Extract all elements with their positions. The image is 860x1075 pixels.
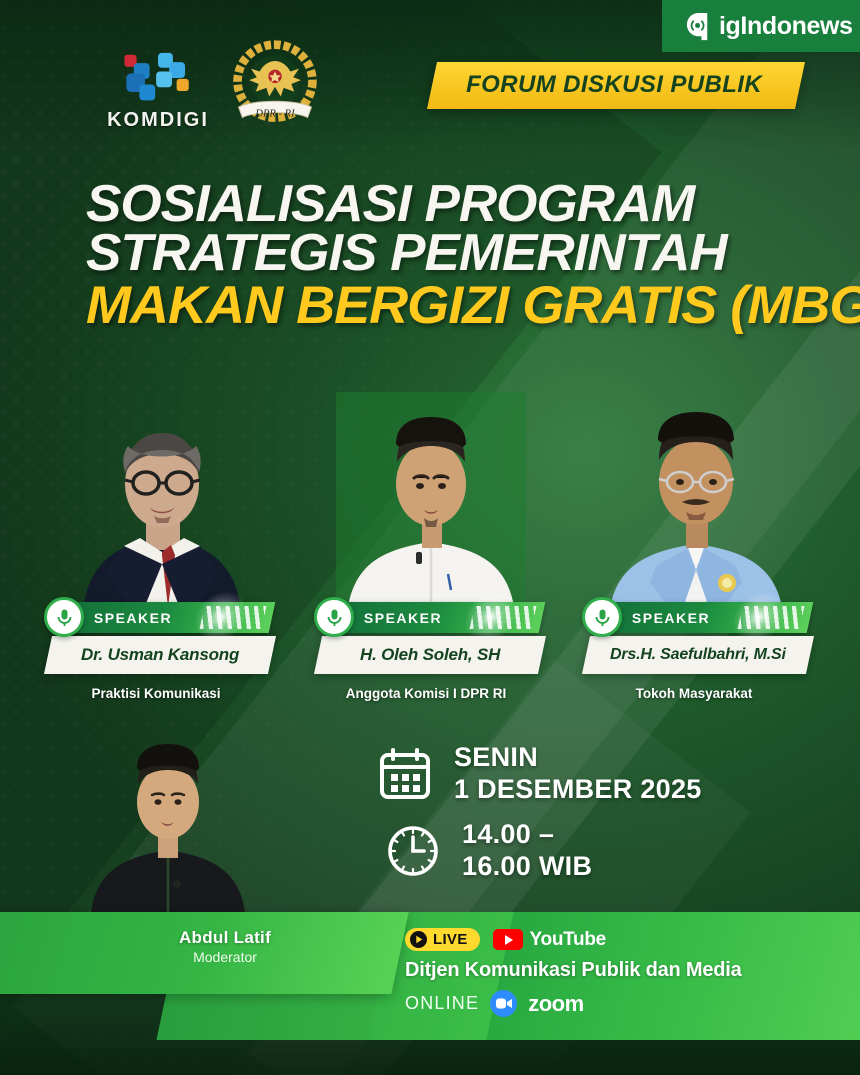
- play-icon: [409, 930, 428, 949]
- komdigi-wordmark: KOMDIGI: [103, 109, 213, 132]
- title-line-2: STRATEGIS PEMERINTAH: [86, 229, 860, 278]
- schedule-time-end: 16.00 WIB: [462, 851, 592, 883]
- microphone-icon: [44, 597, 84, 637]
- schedule-time-start: 14.00 –: [462, 819, 592, 851]
- youtube-logo[interactable]: YouTube: [493, 929, 606, 951]
- watermark-igindonews: igIndonews: [662, 0, 860, 52]
- microphone-icon: [314, 597, 354, 637]
- speaker-name-plate-3: Drs.H. Saefulbahri, M.Si: [582, 636, 814, 674]
- schedule-day: SENIN: [454, 742, 702, 774]
- zoom-label: zoom: [528, 991, 583, 1017]
- online-label: ONLINE: [405, 993, 479, 1014]
- speaker-bar-2: SPEAKER: [331, 602, 546, 633]
- institution-logos: KOMDIGI DPR - RI: [103, 36, 323, 132]
- komdigi-logo-icon: [115, 51, 201, 105]
- broadcast-online-row: ONLINE zoom: [405, 990, 742, 1017]
- signal-leaf-icon: [684, 11, 715, 42]
- speaker-role: Tokoh Masyarakat: [578, 686, 810, 701]
- moderator-photo: [78, 722, 258, 922]
- schedule-date-row: SENIN 1 DESEMBER 2025: [378, 742, 702, 805]
- schedule-block: SENIN 1 DESEMBER 2025 14.00 – 16.00 WIB: [378, 742, 702, 882]
- broadcast-channel: Ditjen Komunikasi Publik dan Media: [405, 959, 742, 982]
- youtube-label: YouTube: [530, 929, 606, 951]
- speaker-flare: [726, 592, 793, 642]
- speaker-flare: [458, 592, 525, 642]
- clock-icon: [386, 824, 440, 878]
- title-line-3: MAKAN BERGIZI GRATIS (MBG): [86, 281, 860, 331]
- forum-ribbon-label: FORUM DISKUSI PUBLIK: [466, 71, 762, 99]
- watermark-label: igIndonews: [719, 12, 853, 41]
- speaker-role: Anggota Komisi I DPR RI: [310, 686, 542, 701]
- zoom-camera-icon: [490, 990, 517, 1017]
- schedule-date-text: SENIN 1 DESEMBER 2025: [454, 742, 702, 805]
- speaker-bar-1: SPEAKER: [61, 602, 276, 633]
- forum-ribbon: FORUM DISKUSI PUBLIK: [427, 62, 805, 109]
- calendar-icon: [378, 747, 432, 801]
- schedule-time-row: 14.00 – 16.00 WIB: [378, 819, 702, 882]
- broadcast-info: LIVE YouTube Ditjen Komunikasi Publik da…: [405, 928, 742, 1017]
- page-title: SOSIALISASI PROGRAM STRATEGIS PEMERINTAH…: [86, 180, 860, 331]
- schedule-time-text: 14.00 – 16.00 WIB: [462, 819, 592, 882]
- speaker-name: H. Oleh Soleh, SH: [360, 645, 500, 665]
- komdigi-logo-group: KOMDIGI: [103, 51, 213, 132]
- speaker-bar-3: SPEAKER: [599, 602, 814, 633]
- svg-text:DPR - RI: DPR - RI: [254, 109, 295, 120]
- speaker-photo-3: [596, 390, 796, 622]
- speaker-name-plate-2: H. Oleh Soleh, SH: [314, 636, 546, 674]
- speaker-photo-2: [336, 392, 526, 622]
- title-line-1: SOSIALISASI PROGRAM: [86, 180, 860, 229]
- speaker-name-plate-1: Dr. Usman Kansong: [44, 636, 276, 674]
- speaker-card-3: SPEAKER Drs.H. Saefulbahri, M.Si Tokoh M…: [578, 602, 810, 701]
- speaker-name: Drs.H. Saefulbahri, M.Si: [610, 646, 786, 664]
- schedule-date: 1 DESEMBER 2025: [454, 774, 702, 806]
- speaker-card-1: SPEAKER Dr. Usman Kansong Praktisi Komun…: [40, 602, 272, 701]
- moderator-role: Moderator: [110, 949, 340, 965]
- broadcast-live-row: LIVE YouTube: [405, 928, 742, 951]
- speaker-card-2: SPEAKER H. Oleh Soleh, SH Anggota Komisi…: [310, 602, 542, 701]
- speaker-flare: [188, 592, 255, 642]
- speaker-photo-1: [62, 388, 262, 623]
- live-label: LIVE: [433, 931, 468, 948]
- moderator-name: Abdul Latif: [110, 928, 340, 948]
- dpr-ri-emblem: DPR - RI: [227, 36, 323, 132]
- youtube-icon: [493, 929, 523, 950]
- live-badge: LIVE: [405, 928, 480, 951]
- microphone-icon: [582, 597, 622, 637]
- moderator-info: Abdul Latif Moderator: [110, 928, 340, 965]
- speaker-role: Praktisi Komunikasi: [40, 686, 272, 701]
- speaker-name: Dr. Usman Kansong: [81, 645, 239, 665]
